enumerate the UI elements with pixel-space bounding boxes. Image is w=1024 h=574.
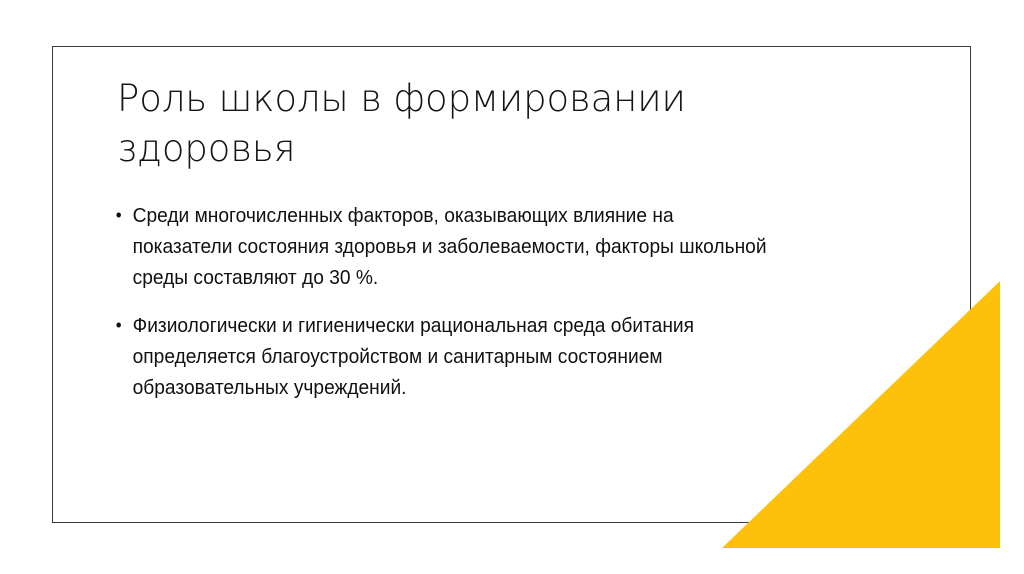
bullet-point-icon: •	[116, 310, 122, 341]
page-title: Роль школы в формировании здоровья	[117, 74, 817, 174]
list-item-text: Среди многочисленных факторов, оказывающ…	[133, 200, 768, 293]
list-item: • Физиологически и гигиенически рационал…	[113, 310, 768, 403]
list-item-text: Физиологически и гигиенически рациональн…	[133, 310, 768, 403]
bullet-list: • Среди многочисленных факторов, оказыва…	[113, 200, 813, 403]
content-placeholder: • Среди многочисленных факторов, оказыва…	[113, 200, 813, 403]
slide: Роль школы в формировании здоровья • Сре…	[0, 0, 1024, 574]
title-placeholder: Роль школы в формировании здоровья	[117, 74, 817, 174]
list-item: • Среди многочисленных факторов, оказыва…	[113, 200, 768, 293]
bullet-point-icon: •	[116, 200, 122, 231]
